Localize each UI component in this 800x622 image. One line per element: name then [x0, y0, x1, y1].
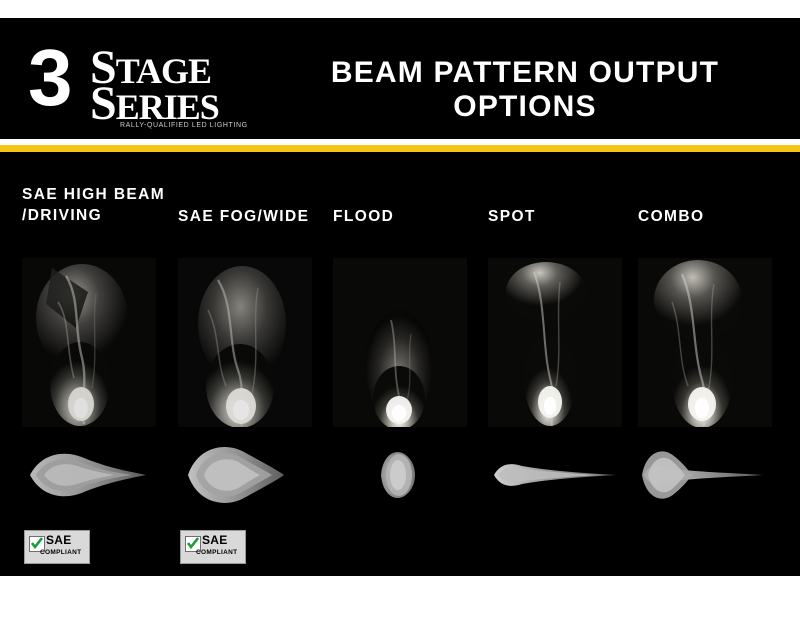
badge-title: SAE — [202, 534, 228, 547]
beam-label-sae-fog-wide: SAE FOG/WIDE — [178, 206, 330, 227]
logo-numeral: 3 — [28, 38, 69, 118]
badge-subtitle: COMPLIANT — [196, 549, 237, 557]
combo-beam-pattern — [638, 440, 780, 510]
beam-column-flood: FLOOD — [333, 152, 475, 576]
beam-column-sae-fog-wide: SAE FOG/WIDE — [178, 152, 320, 576]
beam-pattern-infographic: 3 STAGE SERIES RALLY-QUALIFIED LED LIGHT… — [0, 0, 800, 622]
logo-word-series: SERIES — [90, 86, 219, 125]
wide-beam-pattern — [178, 440, 320, 510]
sae-compliant-badge-fog-wide: SAE COMPLIANT — [180, 530, 246, 564]
beam-photo-combo — [638, 258, 772, 427]
sae-compliant-badge-driving: SAE COMPLIANT — [24, 530, 90, 564]
brand-logo: 3 STAGE SERIES RALLY-QUALIFIED LED LIGHT… — [28, 36, 248, 131]
badge-subtitle: COMPLIANT — [40, 549, 81, 557]
beam-column-combo: COMBO — [638, 152, 780, 576]
beam-photo-spot — [488, 258, 622, 427]
beam-photo-sae-high-beam-driving — [22, 258, 156, 427]
beam-label-combo: COMBO — [638, 206, 790, 227]
logo-tagline: RALLY-QUALIFIED LED LIGHTING — [120, 122, 248, 130]
page-title: BEAM PATTERN OUTPUT OPTIONS — [270, 56, 780, 124]
beam-label-spot: SPOT — [488, 206, 640, 227]
spot-beam-pattern — [488, 440, 630, 510]
beam-label-flood: FLOOD — [333, 206, 485, 227]
content-area: SAE HIGH BEAM /DRIVING — [0, 152, 800, 576]
flood-beam-pattern — [333, 440, 475, 510]
beam-column-spot: SPOT — [488, 152, 630, 576]
beam-photo-flood — [333, 258, 467, 427]
badge-title: SAE — [46, 534, 72, 547]
driving-beam-pattern — [22, 440, 164, 510]
beam-column-sae-high-beam-driving: SAE HIGH BEAM /DRIVING — [22, 152, 164, 576]
footer-strip — [0, 576, 800, 622]
beam-label-sae-high-beam-driving: SAE HIGH BEAM /DRIVING — [22, 184, 174, 226]
accent-divider — [0, 145, 800, 152]
beam-photo-sae-fog-wide — [178, 258, 312, 427]
header-bar: 3 STAGE SERIES RALLY-QUALIFIED LED LIGHT… — [0, 18, 800, 139]
